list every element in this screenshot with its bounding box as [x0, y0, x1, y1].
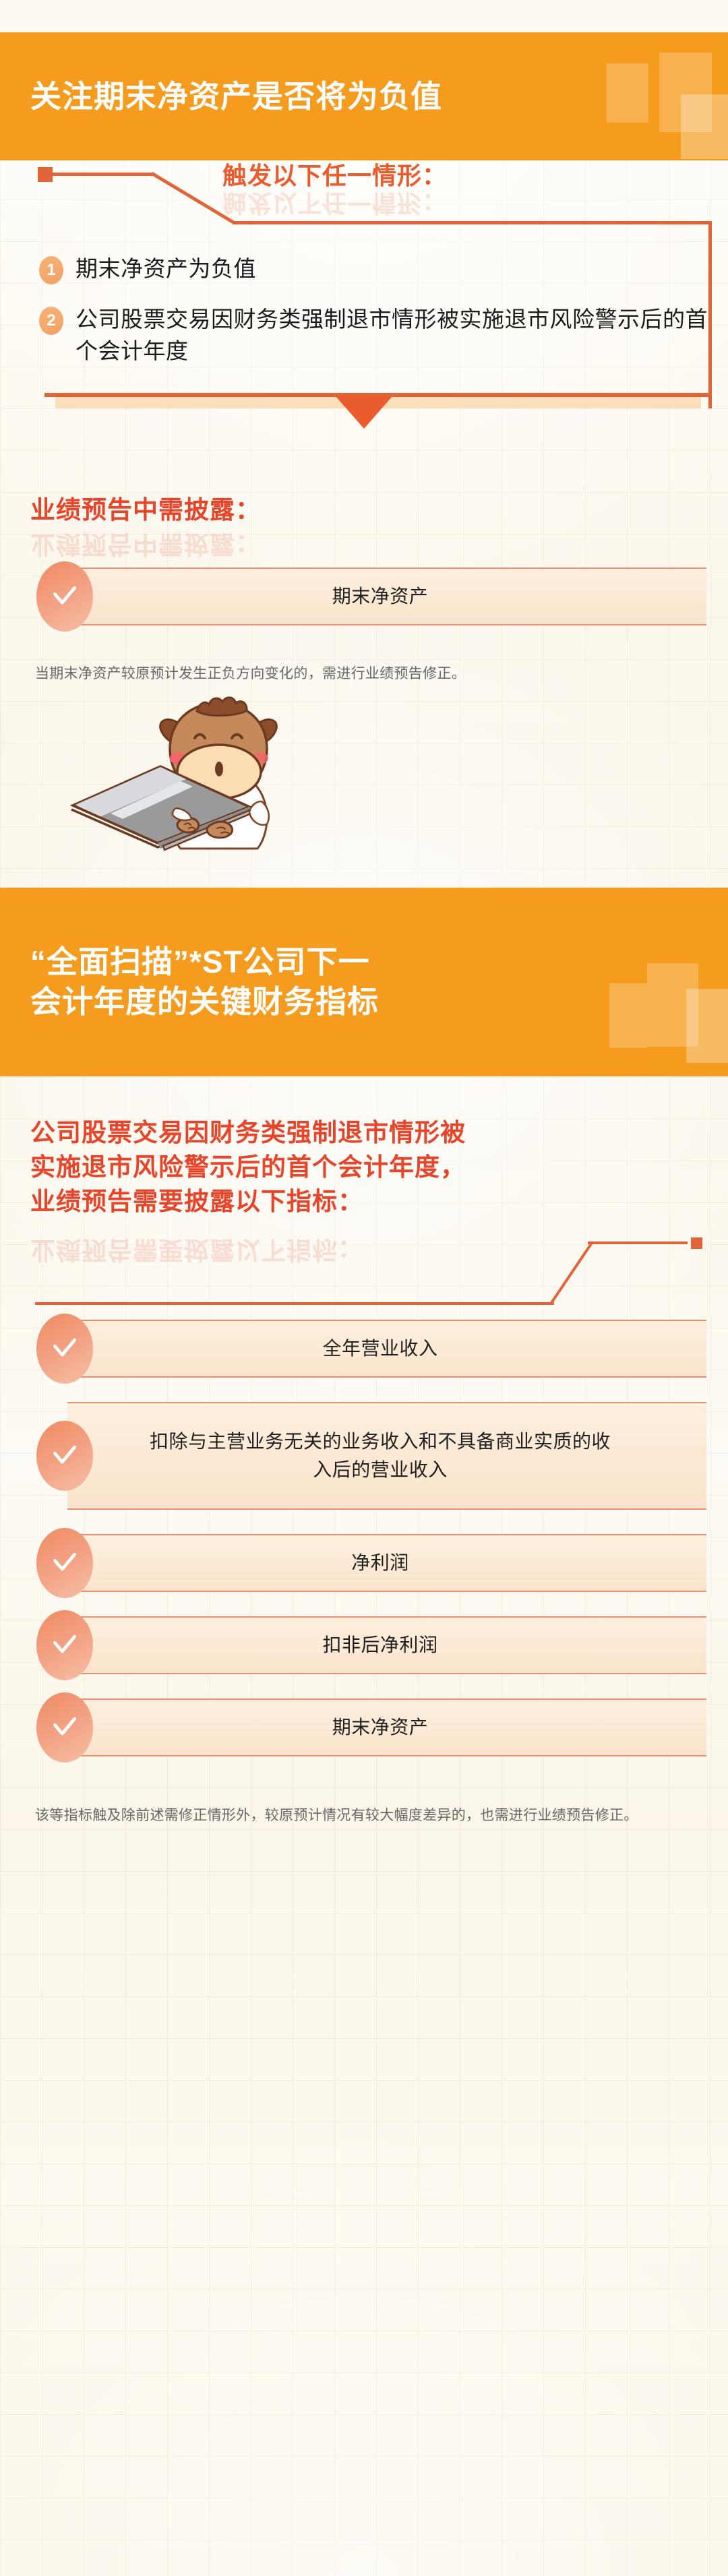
- decor-block-1: [607, 63, 648, 123]
- indicator-card-label: 全年营业收入: [248, 1335, 525, 1363]
- check-icon: [36, 1692, 93, 1762]
- section1-card-list: 期末净资产: [0, 568, 728, 625]
- trigger-conditions-list: 1 期末净资产为负值 2 公司股票交易因财务类强制退市情形被实施退市风险警示后的…: [0, 225, 728, 393]
- indicator-card[interactable]: 全年营业收入: [23, 1320, 706, 1378]
- decor-block-3: [686, 989, 728, 1063]
- trigger-bracket-frame: 触发以下任一情形： 触发以下任一情形： 1 期末净资产为负值 2 公司股票交易因…: [0, 160, 728, 420]
- bracket-line-lower: [233, 221, 712, 224]
- section2-intro-wrap: 公司股票交易因财务类强制退市情形被 实施退市风险警示后的首个会计年度， 业绩预告…: [0, 1115, 728, 1219]
- intro-line-1: 公司股票交易因财务类强制退市情形被: [30, 1119, 466, 1146]
- indicator-card[interactable]: 扣除与主营业务无关的业务收入和不具备商业实质的收入后的营业收入: [23, 1402, 706, 1510]
- section-key-indicators: “全面扫描”*ST公司下一 会计年度的关键财务指标 公司股票交易因财务类强制退市…: [0, 888, 728, 1828]
- indicator-card-body: 期末净资产: [67, 1698, 706, 1756]
- step-line-upper: [588, 1241, 688, 1244]
- infographic-content: 关注期末净资产是否将为负值 触发以下任一情形： 触发以下任一情形： 1: [0, 32, 728, 1828]
- list-number-badge: 1: [39, 256, 63, 284]
- bracket-right-edge: [708, 222, 712, 408]
- disclose-heading-wrap: 业绩预告中需披露： 业绩预告中需披露：: [0, 493, 728, 527]
- decor-block-3: [681, 94, 728, 159]
- decor-block-1: [609, 983, 647, 1048]
- list-number-badge: 2: [39, 307, 63, 335]
- section1-banner: 关注期末净资产是否将为负值: [0, 32, 728, 160]
- bracket-title: 触发以下任一情形：: [222, 162, 447, 189]
- section2-card-list: 全年营业收入 扣除与主营业务无关的业务收入和不具备商业实质的收入后的营业收入 净…: [0, 1320, 728, 1756]
- check-icon: [36, 1421, 93, 1491]
- section1-title: 关注期末净资产是否将为负值: [0, 77, 442, 117]
- section2-note: 该等指标触及除前述需修正情形外，较原预计情况有较大幅度差异的，也需进行业绩预告修…: [0, 1804, 728, 1828]
- banner-decor-blocks: [553, 32, 728, 160]
- list-item-text: 期末净资产为负值: [75, 253, 256, 285]
- indicator-card-body: 期末净资产: [67, 568, 706, 625]
- indicator-card-label: 期末净资产: [258, 1713, 516, 1742]
- list-item: 1 期末净资产为负值: [39, 253, 708, 285]
- indicator-card-label: 扣除与主营业务无关的业务收入和不具备商业实质的收入后的营业收入: [67, 1428, 706, 1484]
- list-item: 2 公司股票交易因财务类强制退市情形被实施退市风险警示后的首个会计年度: [39, 304, 708, 367]
- bracket-top: 触发以下任一情形： 触发以下任一情形：: [0, 160, 728, 225]
- section-net-assets: 关注期末净资产是否将为负值 触发以下任一情形： 触发以下任一情形： 1: [0, 32, 728, 888]
- bracket-title-wrap: 触发以下任一情形： 触发以下任一情形：: [222, 156, 447, 191]
- intro-line-2: 实施退市风险警示后的首个会计年度，: [30, 1153, 466, 1181]
- banner-decor-blocks: [553, 888, 728, 1076]
- bracket-square-cap: [38, 167, 53, 182]
- indicator-card-body: 扣非后净利润: [67, 1616, 706, 1674]
- mascot-area: [0, 685, 728, 888]
- intro-line-3: 业绩预告需要披露以下指标：: [30, 1188, 363, 1215]
- indicator-card-body: 扣除与主营业务无关的业务收入和不具备商业实质的收入后的营业收入: [67, 1402, 706, 1510]
- section2-step-line: [0, 1219, 728, 1320]
- indicator-card-body: 全年营业收入: [67, 1320, 706, 1378]
- section2-title: “全面扫描”*ST公司下一 会计年度的关键财务指标: [0, 942, 379, 1022]
- check-icon: [36, 1314, 93, 1384]
- indicator-card[interactable]: 扣非后净利润: [23, 1616, 706, 1674]
- list-item-text: 公司股票交易因财务类强制退市情形被实施退市风险警示后的首个会计年度: [75, 304, 708, 367]
- indicator-card[interactable]: 期末净资产: [23, 568, 706, 625]
- step-line-square-cap: [691, 1237, 702, 1249]
- step-line-lower: [35, 1302, 554, 1305]
- indicator-card-body: 净利润: [67, 1534, 706, 1592]
- indicator-card[interactable]: 净利润: [23, 1534, 706, 1592]
- indicator-card[interactable]: 期末净资产: [23, 1698, 706, 1756]
- bracket-arrow-down-icon: [336, 396, 392, 429]
- indicator-card-label: 净利润: [277, 1549, 497, 1577]
- indicator-card-label: 期末净资产: [258, 582, 516, 611]
- indicator-card-label: 扣非后净利润: [248, 1631, 525, 1659]
- bracket-bottom: [0, 393, 728, 420]
- bracket-line-upper: [51, 173, 154, 176]
- section2-title-line2: 会计年度的关键财务指标: [30, 984, 379, 1019]
- bracket-title-reflection: 触发以下任一情形：: [222, 187, 447, 222]
- bull-with-laptop-illustration: [58, 673, 341, 876]
- step-line-diagonal: [550, 1240, 595, 1305]
- section2-title-line1: “全面扫描”*ST公司下一: [30, 944, 370, 979]
- disclose-heading: 业绩预告中需披露：: [30, 496, 261, 524]
- check-icon: [36, 1610, 93, 1680]
- check-icon: [36, 561, 93, 632]
- check-icon: [36, 1528, 93, 1598]
- section2-banner: “全面扫描”*ST公司下一 会计年度的关键财务指标: [0, 888, 728, 1076]
